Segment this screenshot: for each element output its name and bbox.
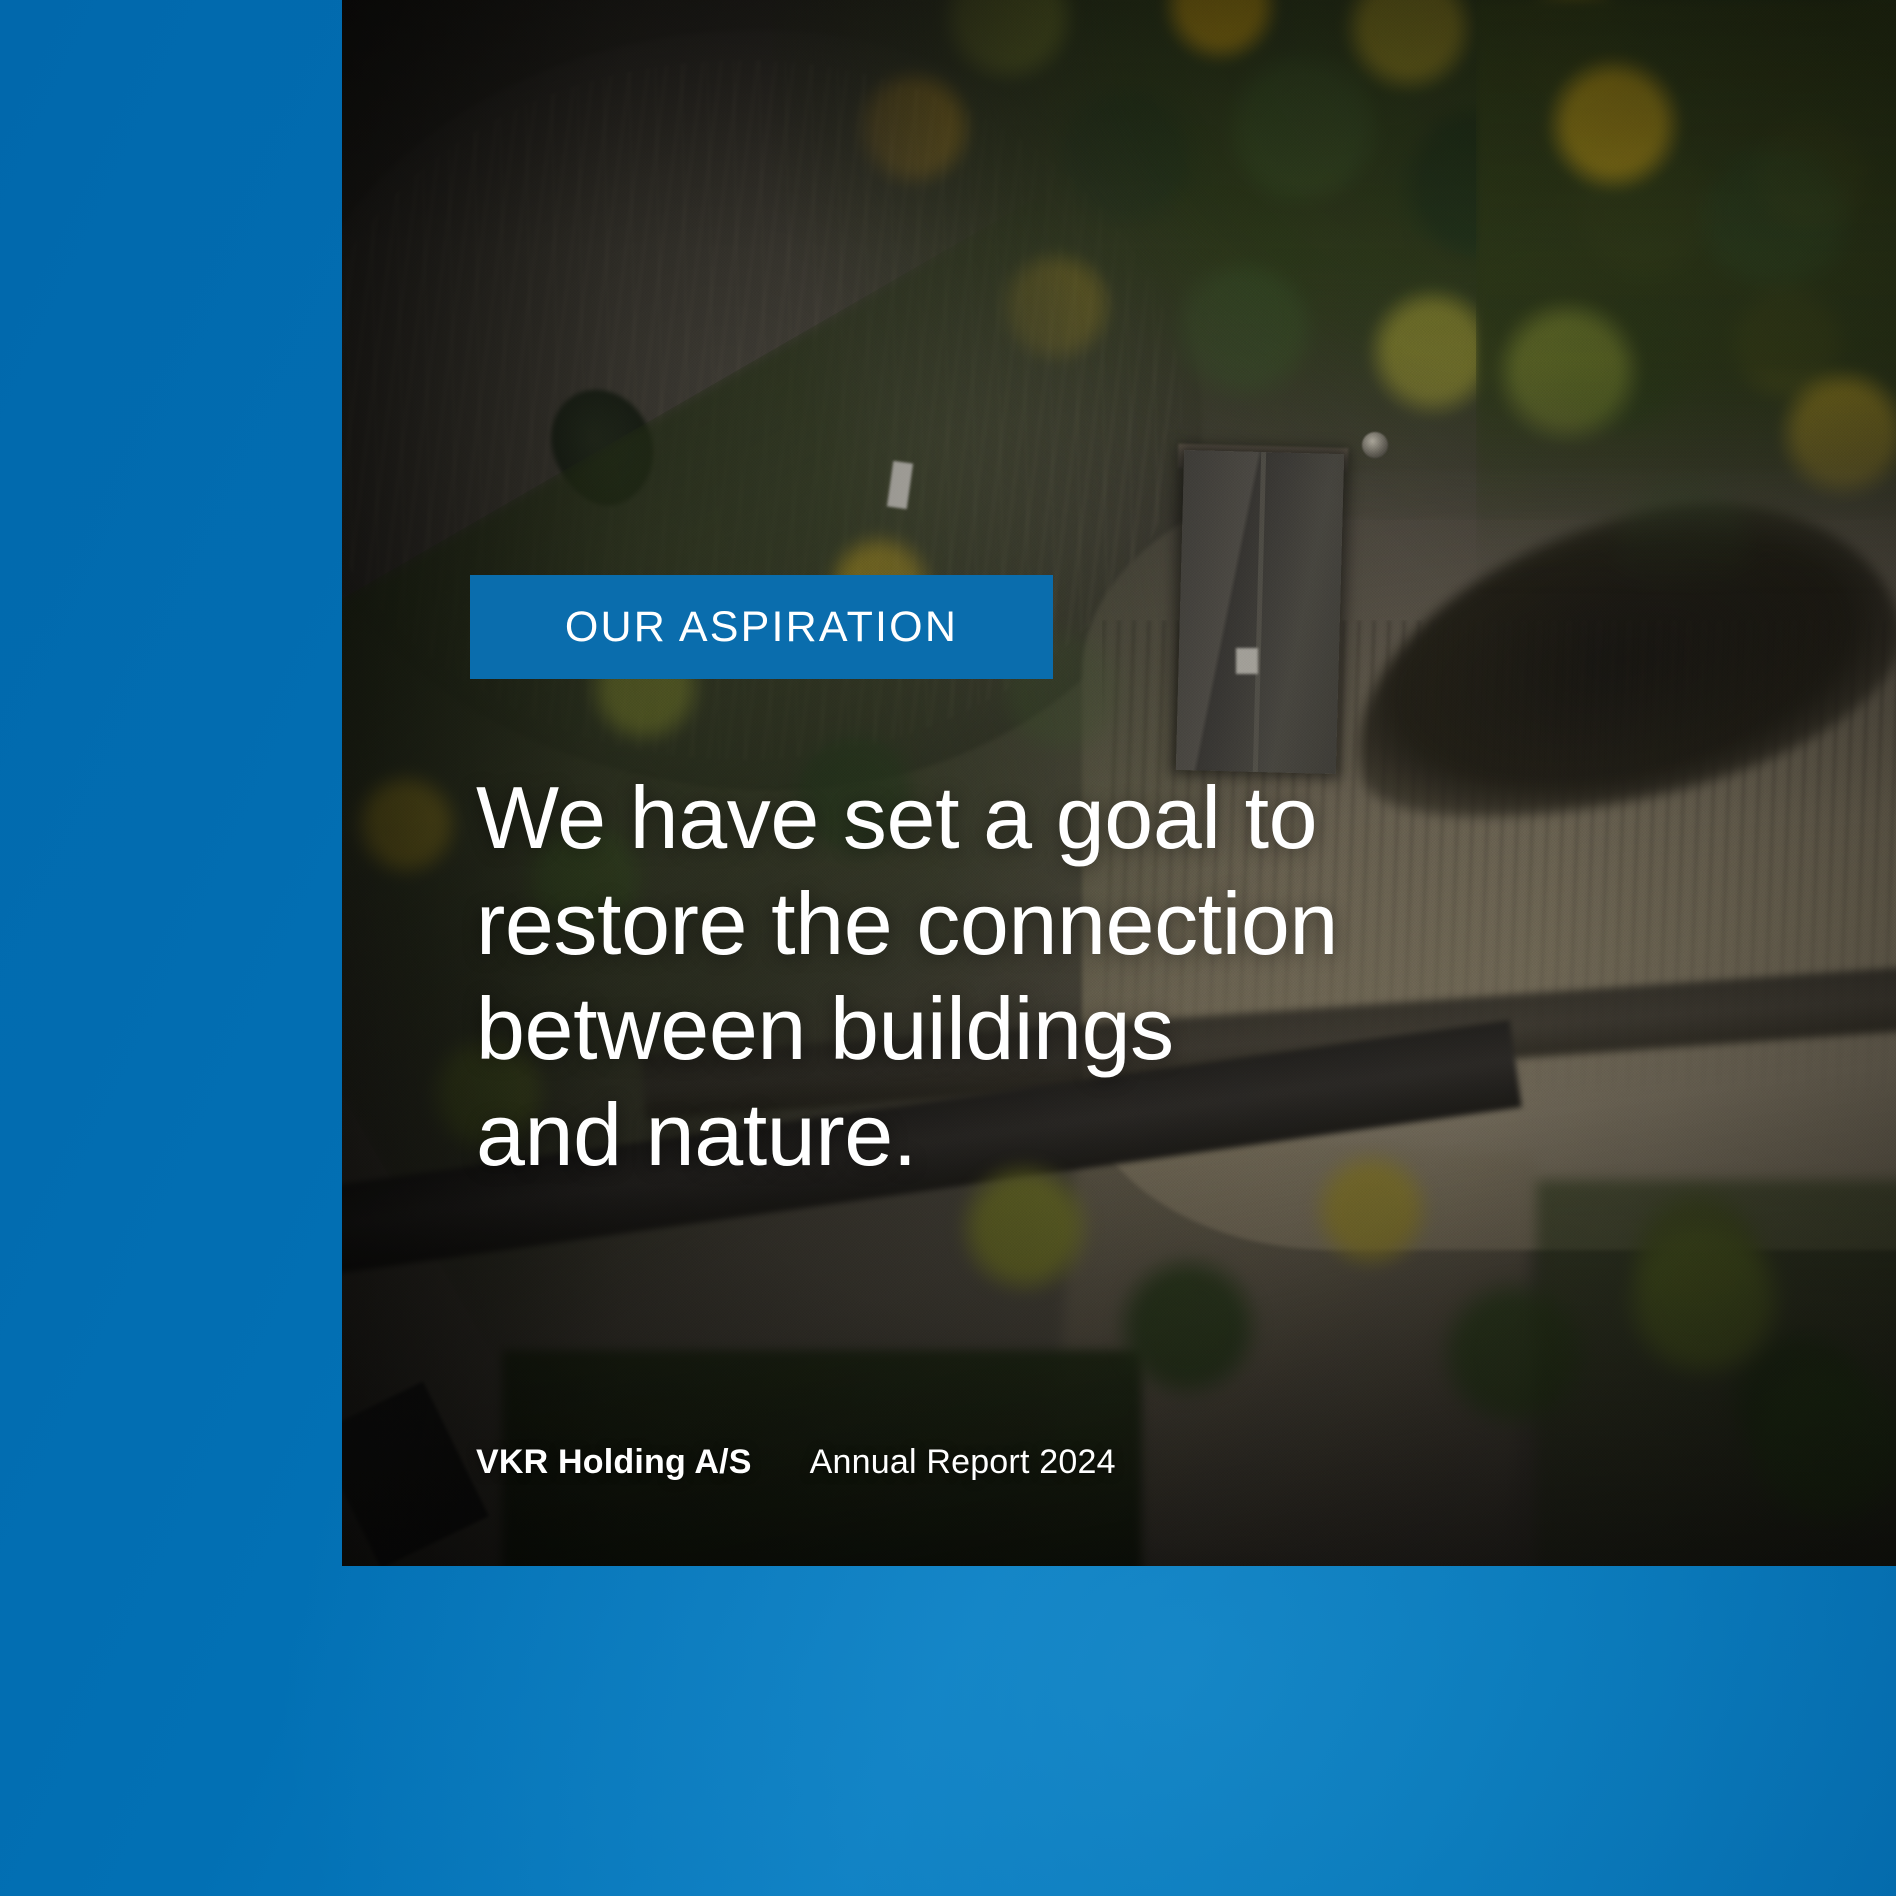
headline-line-2: restore the connection <box>476 871 1656 977</box>
cover-content: OUR ASPIRATION We have set a goal to res… <box>476 0 1676 1566</box>
footer: VKR Holding A/S Annual Report 2024 <box>476 1443 1116 1482</box>
headline-line-3: between buildings <box>476 976 1656 1082</box>
section-label-badge: OUR ASPIRATION <box>470 575 1053 679</box>
headline-line-1: We have set a goal to <box>476 765 1656 871</box>
report-title: Annual Report 2024 <box>810 1443 1116 1482</box>
headline-line-4: and nature. <box>476 1082 1656 1188</box>
section-label-text: OUR ASPIRATION <box>565 603 958 652</box>
company-name: VKR Holding A/S <box>476 1443 752 1482</box>
headline: We have set a goal to restore the connec… <box>476 765 1656 1187</box>
annual-report-cover-slide: OUR ASPIRATION We have set a goal to res… <box>0 0 1896 1896</box>
